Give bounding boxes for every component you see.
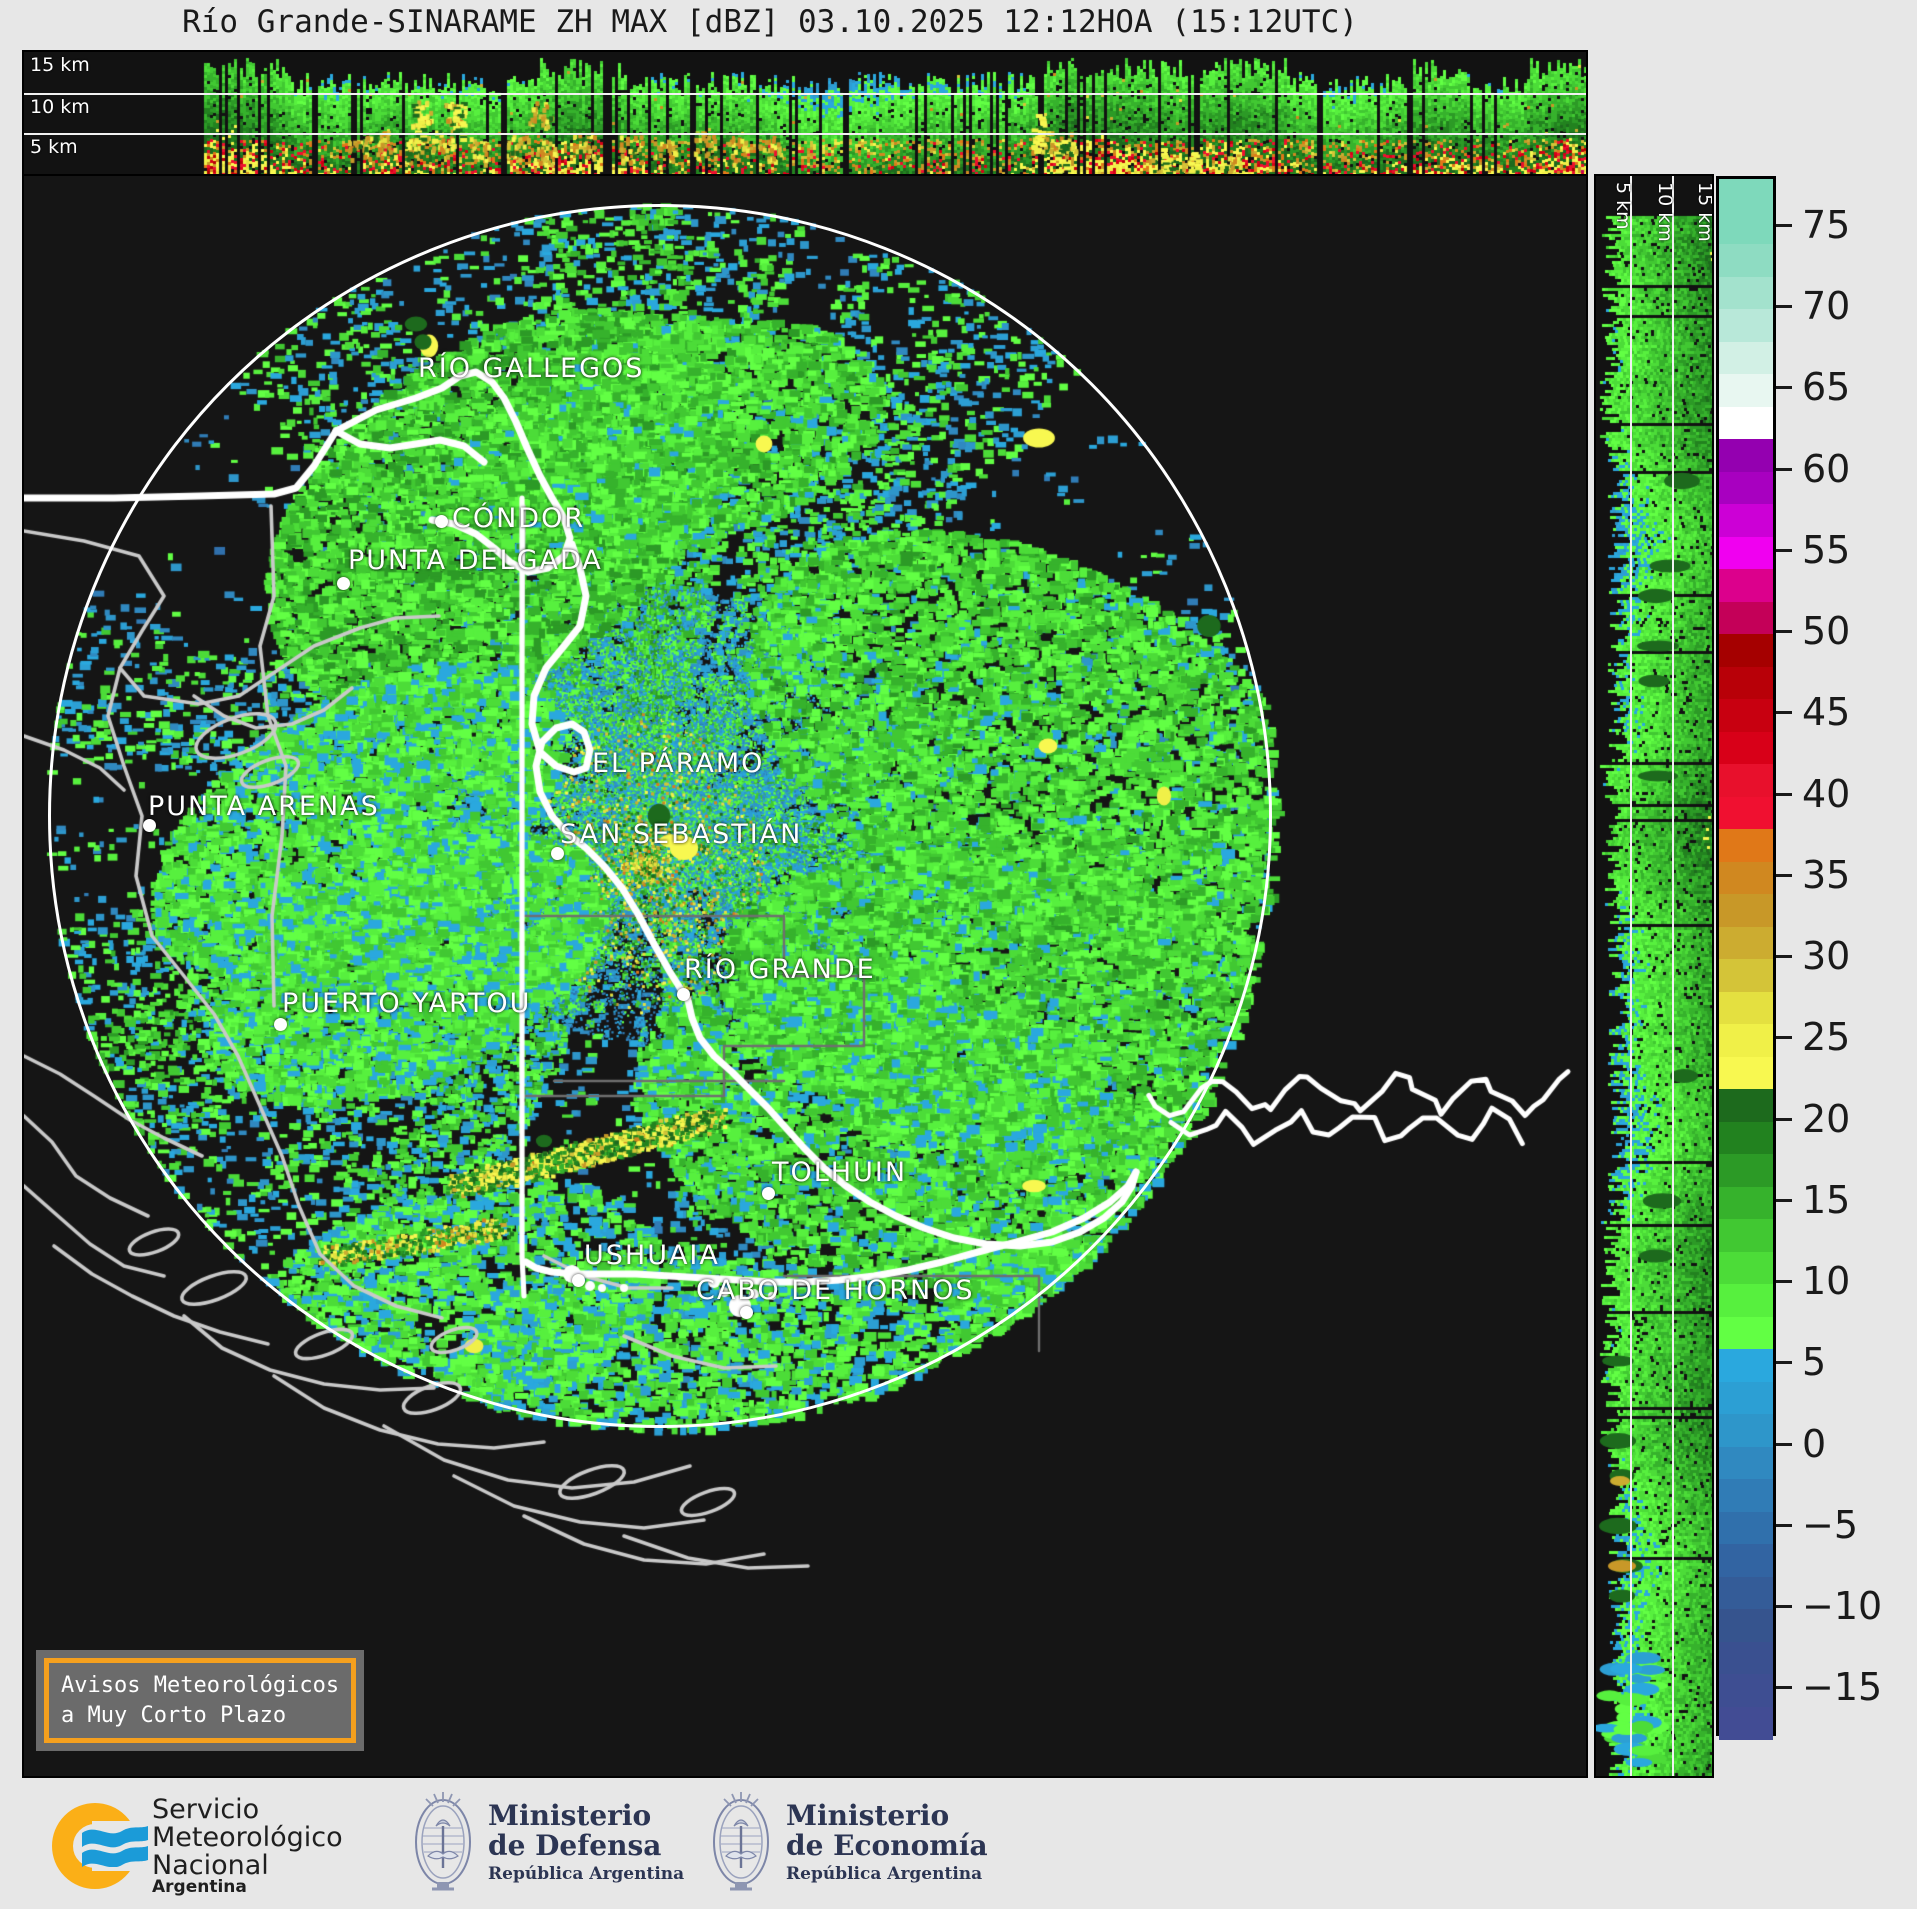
height-label-5km: 5 km — [30, 136, 78, 158]
colorbar-tick-label: 75 — [1802, 203, 1850, 247]
economia-line2: de Economía — [786, 1831, 988, 1861]
colorbar-segment — [1719, 862, 1773, 896]
colorbar-tick-dash — [1776, 1280, 1792, 1283]
city-marker-dot — [337, 577, 350, 590]
right-cross-section-canvas — [1596, 176, 1712, 1776]
colorbar-tick-label: 0 — [1802, 1422, 1826, 1466]
colorbar-segment — [1719, 667, 1773, 701]
colorbar-segment — [1719, 959, 1773, 993]
colorbar-segment — [1719, 1577, 1773, 1611]
colorbar-segment — [1719, 342, 1773, 376]
vline-5km — [1630, 176, 1632, 1776]
colorbar-tick-label: 5 — [1802, 1340, 1826, 1384]
city-label: SAN SEBASTIÁN — [560, 819, 802, 850]
colorbar-tick-label: 30 — [1802, 934, 1850, 978]
colorbar-segment — [1719, 309, 1773, 343]
colorbar-tick-dash — [1776, 793, 1792, 796]
city-marker-dot — [740, 1306, 753, 1319]
colorbar-tick-dash — [1776, 1199, 1792, 1202]
colorbar-segment — [1719, 1674, 1773, 1708]
colorbar-segment — [1719, 407, 1773, 441]
economia-line1: Ministerio — [786, 1801, 988, 1831]
colorbar-segment — [1719, 1219, 1773, 1253]
warning-badge-inner: Avisos Meteorológicos a Muy Corto Plazo — [44, 1658, 356, 1743]
colorbar-tick-dash — [1776, 955, 1792, 958]
gridline-10km — [24, 93, 1586, 95]
city-label: CÓNDOR — [452, 503, 585, 534]
colorbar-segment — [1719, 602, 1773, 636]
colorbar-segment — [1719, 1154, 1773, 1188]
top-cross-section-canvas — [24, 52, 1586, 174]
right-cross-section-panel: 5 km 10 km 15 km — [1594, 174, 1714, 1778]
top-cross-section-panel: 15 km 10 km 5 km — [22, 50, 1588, 176]
colorbar-segment — [1719, 1414, 1773, 1448]
colorbar-segment — [1719, 277, 1773, 311]
colorbar-tick-dash — [1776, 468, 1792, 471]
colorbar-segment — [1719, 1642, 1773, 1676]
colorbar-tick-dash — [1776, 1524, 1792, 1527]
city-label: PUNTA ARENAS — [148, 791, 380, 822]
colorbar-segment — [1719, 1447, 1773, 1481]
smn-wave-icon — [82, 1825, 148, 1867]
city-marker-dot — [762, 1187, 775, 1200]
colorbar-tick-label: 60 — [1802, 447, 1850, 491]
colorbar-segment — [1719, 1057, 1773, 1091]
colorbar-segment — [1719, 537, 1773, 571]
colorbar-segment — [1719, 439, 1773, 473]
city-label: USHUAIA — [584, 1240, 720, 1271]
colorbar-tick-label: 45 — [1802, 690, 1850, 734]
colorbar-segment — [1719, 569, 1773, 603]
colorbar-tick-dash — [1776, 711, 1792, 714]
colorbar-segment — [1719, 1024, 1773, 1058]
colorbar-segment — [1719, 1284, 1773, 1318]
smn-line1: Servicio — [152, 1796, 343, 1824]
city-label: RÍO GRANDE — [684, 954, 876, 985]
colorbar — [1716, 176, 1776, 1736]
city-label: CABO DE HORNOS — [696, 1275, 975, 1306]
colorbar-tick-dash — [1776, 549, 1792, 552]
colorbar-tick-dash — [1776, 305, 1792, 308]
colorbar-ticks: 757065605550454035302520151050−5−10−15 — [1776, 176, 1906, 1736]
colorbar-segment — [1719, 212, 1773, 246]
argentina-shield-icon — [710, 1790, 772, 1894]
colorbar-segment — [1719, 179, 1773, 213]
colorbar-segment — [1719, 1707, 1773, 1741]
smn-line4: Argentina — [152, 1879, 343, 1897]
colorbar-segment — [1719, 1187, 1773, 1221]
colorbar-tick-label: 70 — [1802, 284, 1850, 328]
colorbar-segment — [1719, 1317, 1773, 1351]
colorbar-segment — [1719, 1544, 1773, 1578]
colorbar-tick-dash — [1776, 1118, 1792, 1121]
colorbar-segment — [1719, 634, 1773, 668]
vheight-label-15km: 15 km — [1694, 182, 1714, 242]
vheight-label-5km: 5 km — [1612, 182, 1634, 230]
colorbar-segment — [1719, 374, 1773, 408]
city-label: RÍO GALLEGOS — [418, 353, 644, 384]
colorbar-tick-label: −15 — [1802, 1665, 1882, 1709]
colorbar-segment — [1719, 764, 1773, 798]
colorbar-tick-label: 20 — [1802, 1097, 1850, 1141]
colorbar-tick-dash — [1776, 1443, 1792, 1446]
city-marker-dot — [143, 819, 156, 832]
colorbar-segment — [1719, 699, 1773, 733]
colorbar-tick-label: 50 — [1802, 609, 1850, 653]
colorbar-tick-dash — [1776, 386, 1792, 389]
height-label-10km: 10 km — [30, 96, 90, 118]
colorbar-segment — [1719, 1122, 1773, 1156]
defensa-line3: República Argentina — [488, 1865, 684, 1883]
warning-badge-line1: Avisos Meteorológicos — [61, 1671, 339, 1701]
colorbar-tick-dash — [1776, 224, 1792, 227]
colorbar-segment — [1719, 797, 1773, 831]
colorbar-tick-dash — [1776, 874, 1792, 877]
colorbar-tick-dash — [1776, 630, 1792, 633]
colorbar-segment — [1719, 1479, 1773, 1513]
colorbar-gradient — [1716, 176, 1776, 1736]
colorbar-tick-label: 10 — [1802, 1259, 1850, 1303]
defensa-line2: de Defensa — [488, 1831, 684, 1861]
city-label: EL PÁRAMO — [592, 748, 764, 779]
colorbar-segment — [1719, 1252, 1773, 1286]
colorbar-segment — [1719, 732, 1773, 766]
colorbar-tick-dash — [1776, 1036, 1792, 1039]
colorbar-segment — [1719, 992, 1773, 1026]
city-marker-dot — [551, 847, 564, 860]
city-label: PUNTA DELGADA — [348, 545, 603, 576]
city-marker-dot — [572, 1274, 585, 1287]
city-marker-dot — [274, 1018, 287, 1031]
smn-line3: Nacional — [152, 1852, 343, 1880]
colorbar-tick-label: 25 — [1802, 1015, 1850, 1059]
colorbar-tick-label: −10 — [1802, 1584, 1882, 1628]
colorbar-tick-label: 65 — [1802, 365, 1850, 409]
gridline-5km — [24, 133, 1586, 135]
colorbar-tick-dash — [1776, 1686, 1792, 1689]
radar-ppi-panel[interactable]: RÍO GALLEGOSCÓNDORPUNTA DELGADAPUNTA ARE… — [22, 174, 1588, 1778]
colorbar-segment — [1719, 1089, 1773, 1123]
colorbar-segment — [1719, 504, 1773, 538]
colorbar-segment — [1719, 829, 1773, 863]
city-marker-dot — [435, 515, 448, 528]
logo-ministerio-economia: Ministerio de Economía República Argenti… — [710, 1790, 988, 1894]
warning-badge[interactable]: Avisos Meteorológicos a Muy Corto Plazo — [36, 1650, 364, 1751]
height-label-15km: 15 km — [30, 54, 90, 76]
vline-10km — [1672, 176, 1674, 1776]
colorbar-segment — [1719, 927, 1773, 961]
colorbar-segment — [1719, 1382, 1773, 1416]
colorbar-tick-label: 35 — [1802, 853, 1850, 897]
colorbar-segment — [1719, 1512, 1773, 1546]
logo-ministerio-defensa: Ministerio de Defensa República Argentin… — [412, 1790, 684, 1894]
smn-logo-icon — [52, 1803, 138, 1889]
warning-badge-line2: a Muy Corto Plazo — [61, 1701, 339, 1731]
smn-line2: Meteorológico — [152, 1824, 343, 1852]
defensa-line1: Ministerio — [488, 1801, 684, 1831]
city-label: PUERTO YARTOU — [282, 988, 531, 1019]
colorbar-tick-label: 15 — [1802, 1178, 1850, 1222]
colorbar-tick-label: −5 — [1802, 1503, 1858, 1547]
logo-smn: Servicio Meteorológico Nacional Argentin… — [52, 1796, 343, 1897]
colorbar-segment — [1719, 1609, 1773, 1643]
colorbar-tick-dash — [1776, 1361, 1792, 1364]
city-marker-dot — [677, 988, 690, 1001]
colorbar-segment — [1719, 244, 1773, 278]
argentina-shield-icon — [412, 1790, 474, 1894]
page-title: Río Grande-SINARAME ZH MAX [dBZ] 03.10.2… — [0, 4, 1540, 44]
colorbar-segment — [1719, 894, 1773, 928]
colorbar-tick-dash — [1776, 1605, 1792, 1608]
economia-line3: República Argentina — [786, 1865, 988, 1883]
colorbar-tick-label: 40 — [1802, 772, 1850, 816]
footer-logos: Servicio Meteorológico Nacional Argentin… — [0, 1778, 1917, 1909]
colorbar-segment — [1719, 1349, 1773, 1383]
colorbar-tick-label: 55 — [1802, 528, 1850, 572]
colorbar-segment — [1719, 472, 1773, 506]
city-label: TOLHUIN — [772, 1157, 907, 1188]
vheight-label-10km: 10 km — [1654, 182, 1676, 242]
